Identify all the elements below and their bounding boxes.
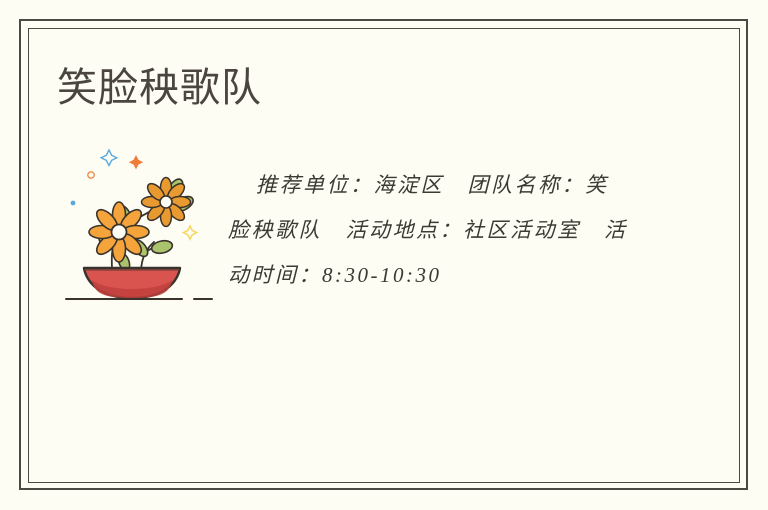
- blue-star-sparkle: [101, 150, 117, 166]
- page-title: 笑脸秧歌队: [57, 62, 262, 114]
- yellow-star-sparkle: [183, 226, 196, 239]
- flower-large-center: [112, 225, 127, 240]
- blue-dot-sparkle: [71, 201, 76, 206]
- flower-small-center: [160, 196, 172, 208]
- orange-circle-sparkle: [88, 172, 94, 178]
- flower-large: [89, 202, 149, 262]
- flower-pot: [84, 268, 180, 298]
- activity-details-text: 推荐单位：海淀区 团队名称：笑脸秧歌队 活动地点：社区活动室 活动时间：8:30…: [228, 163, 628, 298]
- orange-star-sparkle: [129, 155, 143, 169]
- flower-small: [142, 178, 191, 227]
- poster-card: 笑脸秧歌队: [0, 0, 768, 510]
- potted-flowers-illustration: [62, 140, 227, 310]
